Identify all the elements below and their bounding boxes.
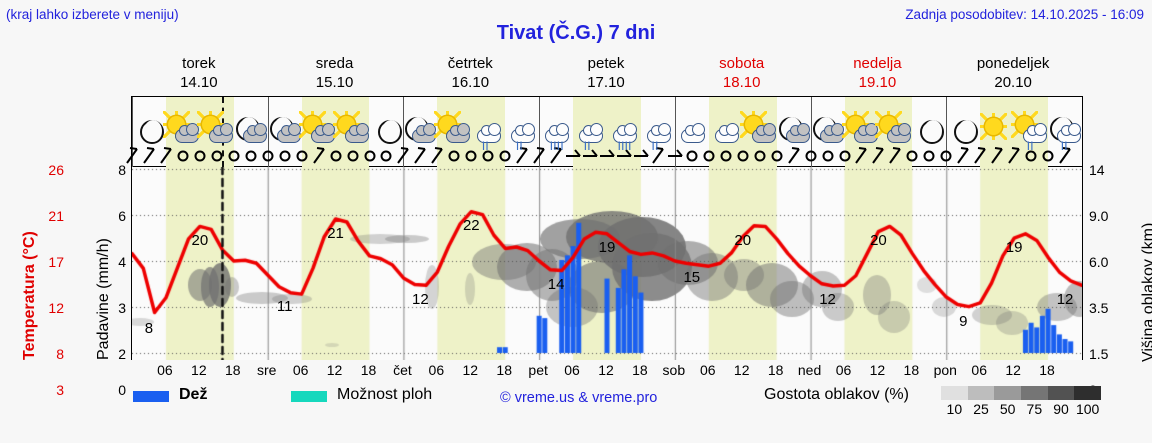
cloud-icon bbox=[277, 129, 301, 143]
cloud-density-tick: 50 bbox=[1000, 401, 1016, 417]
tick-label: 9.0 bbox=[1089, 208, 1108, 224]
cloud-icon bbox=[752, 129, 776, 143]
temperature-label: 19 bbox=[599, 239, 616, 256]
cloud-tick-labels: 149.06.03.51.50 bbox=[1089, 160, 1129, 370]
rain-drops-icon: || bbox=[584, 142, 591, 149]
weather-icon-cell bbox=[845, 97, 879, 167]
weather-icon-cell bbox=[302, 97, 336, 167]
x-axis-tick-labels: 061218sre061218čet061218pet061218sob0612… bbox=[131, 362, 1083, 380]
x-tick-label: 06 bbox=[700, 362, 716, 378]
x-tick-label: 06 bbox=[971, 362, 987, 378]
weather-icon-sun-cloud bbox=[166, 115, 200, 149]
weather-icon-moon-cloud bbox=[403, 115, 437, 149]
tick-label: 4 bbox=[118, 254, 126, 270]
weather-icon-cloud-rain-light: || bbox=[505, 115, 539, 149]
weather-icon-moon-cloud bbox=[234, 115, 268, 149]
weather-icon-moon bbox=[132, 115, 166, 149]
cloud-icon bbox=[511, 129, 535, 143]
cloud-icon bbox=[175, 129, 199, 143]
x-tick-label: 12 bbox=[870, 362, 886, 378]
day-header-torek: torek14.10 bbox=[131, 54, 267, 92]
moon-icon bbox=[920, 120, 944, 144]
temperature-label: 9 bbox=[959, 313, 967, 330]
weather-icon-cloud-rain-heavy: |||| bbox=[607, 115, 641, 149]
weather-icon-cell bbox=[912, 97, 946, 167]
x-tick-label: 06 bbox=[429, 362, 445, 378]
weather-icon-sun-cloud bbox=[437, 115, 471, 149]
x-tick-label: 18 bbox=[1039, 362, 1055, 378]
weather-icon-cell bbox=[132, 97, 166, 167]
tick-label: 6 bbox=[118, 208, 126, 224]
moon-icon bbox=[378, 120, 402, 144]
x-tick-label: sre bbox=[257, 362, 276, 378]
day-header-petek: petek17.10 bbox=[538, 54, 674, 92]
weather-icon-cell bbox=[234, 97, 268, 167]
weather-icon-cell bbox=[878, 97, 912, 167]
cloud-density-tick: 25 bbox=[973, 401, 989, 417]
weather-icon-cell bbox=[200, 97, 234, 167]
day-header-ponedeljek: ponedeljek20.10 bbox=[945, 54, 1081, 92]
cloud-icon bbox=[446, 129, 470, 143]
location-menu-note: (kraj lahko izberete v meniju) bbox=[6, 7, 179, 22]
cloud-icon bbox=[412, 129, 436, 143]
cloud-icon bbox=[854, 129, 878, 143]
temperature-label: 20 bbox=[870, 232, 887, 249]
x-tick-label: čet bbox=[393, 362, 412, 378]
rain-legend-label: Dež bbox=[179, 386, 207, 404]
weather-icon-sun-cloud-rain: || bbox=[1014, 115, 1048, 149]
cloud-icon bbox=[820, 129, 844, 143]
showers-legend-label: Možnost ploh bbox=[337, 386, 432, 404]
weather-icon-cloud-rain-heavy: |||| bbox=[539, 115, 573, 149]
day-date: 15.10 bbox=[267, 73, 403, 92]
x-tick-label: 18 bbox=[225, 362, 241, 378]
weather-icon-cell bbox=[166, 97, 200, 167]
temperature-label: 14 bbox=[548, 276, 565, 293]
x-tick-label: 12 bbox=[1005, 362, 1021, 378]
weather-icon-cell bbox=[946, 97, 980, 167]
cloud-density-tick: 75 bbox=[1027, 401, 1043, 417]
rain-drops-icon: |||| bbox=[618, 142, 632, 149]
weather-icon-cloud bbox=[709, 115, 743, 149]
x-tick-label: 12 bbox=[462, 362, 478, 378]
tick-label: 1.5 bbox=[1089, 346, 1108, 362]
day-name: sobota bbox=[674, 54, 810, 73]
weather-icon-cell: || bbox=[471, 97, 505, 167]
copyright-link[interactable]: © vreme.us & vreme.pro bbox=[500, 390, 657, 406]
last-updated-label: Zadnja posodobitev: 14.10.2025 - 16:09 bbox=[905, 7, 1144, 22]
cloud-icon bbox=[345, 129, 369, 143]
rain-drops-icon: || bbox=[1027, 142, 1034, 149]
x-tick-label: 12 bbox=[191, 362, 207, 378]
weather-icon-cell bbox=[437, 97, 471, 167]
day-date: 20.10 bbox=[945, 73, 1081, 92]
x-tick-label: 12 bbox=[598, 362, 614, 378]
day-name: nedelja bbox=[810, 54, 946, 73]
x-tick-label: 18 bbox=[904, 362, 920, 378]
weather-icon-band: |||||||||||||||||||| bbox=[132, 97, 1082, 167]
cloud-density-step bbox=[1021, 386, 1048, 400]
weather-icon-sun-cloud bbox=[845, 115, 879, 149]
tick-label: 0 bbox=[118, 382, 126, 398]
rain-drops-icon: || bbox=[482, 142, 489, 149]
weather-icon-moon-cloud bbox=[777, 115, 811, 149]
day-header-nedelja: nedelja19.10 bbox=[810, 54, 946, 92]
cloud-icon bbox=[681, 129, 705, 143]
temperature-label: 15 bbox=[683, 269, 700, 286]
day-header-sobota: sobota18.10 bbox=[674, 54, 810, 92]
cloud-density-step bbox=[941, 386, 968, 400]
chart-canvas bbox=[132, 167, 1082, 360]
weather-icon-cell: || bbox=[1048, 97, 1082, 167]
x-tick-label: 12 bbox=[327, 362, 343, 378]
temperature-tick-labels: 2621171283 bbox=[28, 160, 64, 370]
tick-label: 3 bbox=[56, 382, 64, 398]
weather-icon-cell bbox=[743, 97, 777, 167]
weather-icon-sun-cloud bbox=[200, 115, 234, 149]
x-tick-label: 06 bbox=[157, 362, 173, 378]
weather-icon-cell bbox=[980, 97, 1014, 167]
weather-icon-sun bbox=[980, 115, 1014, 149]
day-date: 17.10 bbox=[538, 73, 674, 92]
day-name: četrtek bbox=[402, 54, 538, 73]
day-header-četrtek: četrtek16.10 bbox=[402, 54, 538, 92]
weather-icon-cell bbox=[268, 97, 302, 167]
temperature-label: 19 bbox=[1006, 239, 1023, 256]
x-tick-label: 06 bbox=[293, 362, 309, 378]
weather-icon-moon bbox=[912, 115, 946, 149]
day-date: 19.10 bbox=[810, 73, 946, 92]
precipitation-tick-labels: 864320 bbox=[96, 160, 126, 370]
graph-area: 8201121122214191520122091912 bbox=[132, 167, 1082, 360]
cloud-icon bbox=[715, 129, 739, 143]
moon-icon bbox=[140, 120, 164, 144]
temperature-label: 22 bbox=[463, 217, 480, 234]
weather-icon-cloud-rain-light: || bbox=[573, 115, 607, 149]
rain-legend-swatch bbox=[133, 391, 169, 402]
weather-icon-moon-cloud bbox=[811, 115, 845, 149]
x-tick-label: pon bbox=[934, 362, 957, 378]
weather-icon-moon-cloud-rain: || bbox=[1048, 115, 1082, 149]
x-tick-label: 18 bbox=[632, 362, 648, 378]
cloud-density-tick: 100 bbox=[1076, 401, 1099, 417]
weather-icon-moon bbox=[946, 115, 980, 149]
temperature-label: 12 bbox=[819, 291, 836, 308]
weather-icon-cell: || bbox=[505, 97, 539, 167]
weather-icon-cloud-rain-light: || bbox=[641, 115, 675, 149]
showers-legend-swatch bbox=[291, 391, 327, 402]
x-tick-label: ned bbox=[798, 362, 821, 378]
temperature-label: 12 bbox=[412, 291, 429, 308]
rain-drops-icon: |||| bbox=[550, 142, 564, 149]
tick-label: 3.5 bbox=[1089, 300, 1108, 316]
cloud-icon bbox=[887, 129, 911, 143]
tick-label: 14 bbox=[1089, 162, 1105, 178]
day-name: petek bbox=[538, 54, 674, 73]
weather-icon-cell bbox=[403, 97, 437, 167]
weather-icon-cell: || bbox=[1014, 97, 1048, 167]
x-tick-label: 06 bbox=[564, 362, 580, 378]
cloud-density-tick: 10 bbox=[947, 401, 963, 417]
cloud-density-step bbox=[968, 386, 995, 400]
weather-icon-cloud-rain-light: || bbox=[471, 115, 505, 149]
cloud-icon bbox=[477, 129, 501, 143]
weather-icon-cell bbox=[336, 97, 370, 167]
x-tick-label: 12 bbox=[734, 362, 750, 378]
weather-icon-cell: || bbox=[573, 97, 607, 167]
cloud-density-colorbar bbox=[941, 386, 1101, 400]
page-title: Tivat (Č.G.) 7 dni bbox=[0, 22, 1152, 45]
cloud-density-legend-label: Gostota oblakov (%) bbox=[764, 386, 909, 404]
x-tick-label: sob bbox=[663, 362, 686, 378]
temperature-label: 21 bbox=[327, 225, 344, 242]
cloud-icon bbox=[786, 129, 810, 143]
weather-icon-cell bbox=[675, 97, 709, 167]
weather-icon-sun-cloud bbox=[878, 115, 912, 149]
day-date: 18.10 bbox=[674, 73, 810, 92]
tick-label: 26 bbox=[48, 162, 64, 178]
cloud-density-step bbox=[994, 386, 1021, 400]
weather-icon-cell bbox=[777, 97, 811, 167]
day-name: torek bbox=[131, 54, 267, 73]
tick-label: 3 bbox=[118, 300, 126, 316]
day-name: ponedeljek bbox=[945, 54, 1081, 73]
x-tick-label: pet bbox=[528, 362, 547, 378]
tick-label: 17 bbox=[48, 254, 64, 270]
tick-label: 12 bbox=[48, 300, 64, 316]
weather-icon-sun-cloud bbox=[302, 115, 336, 149]
tick-label: 21 bbox=[48, 208, 64, 224]
weather-icon-sun-cloud bbox=[743, 115, 777, 149]
tick-label: 8 bbox=[56, 346, 64, 362]
temperature-label: 20 bbox=[734, 232, 751, 249]
sun-icon bbox=[985, 118, 1002, 135]
x-tick-label: 18 bbox=[361, 362, 377, 378]
weather-icon-cell: |||| bbox=[607, 97, 641, 167]
day-header-sreda: sreda15.10 bbox=[267, 54, 403, 92]
x-tick-label: 18 bbox=[768, 362, 784, 378]
rain-drops-icon: || bbox=[516, 142, 523, 149]
moon-icon bbox=[954, 120, 978, 144]
cloud-density-step bbox=[1074, 386, 1101, 400]
weather-icon-cell bbox=[811, 97, 845, 167]
forecast-plot[interactable]: |||||||||||||||||||| 8201121122214191520… bbox=[131, 96, 1083, 360]
day-date: 16.10 bbox=[402, 73, 538, 92]
temperature-label: 11 bbox=[277, 298, 293, 315]
weather-icon-moon bbox=[370, 115, 404, 149]
day-date: 14.10 bbox=[131, 73, 267, 92]
temperature-axis-title: Temperatura (°C) bbox=[3, 172, 25, 362]
weather-icon-cell bbox=[370, 97, 404, 167]
weather-icon-cell: || bbox=[641, 97, 675, 167]
day-headers: torek14.10sreda15.10četrtek16.10petek17.… bbox=[131, 54, 1083, 96]
day-name: sreda bbox=[267, 54, 403, 73]
weather-icon-cell: |||| bbox=[539, 97, 573, 167]
weather-icon-cloud bbox=[675, 115, 709, 149]
rain-drops-icon: || bbox=[1061, 142, 1068, 149]
tick-label: 2 bbox=[118, 346, 126, 362]
cloud-icon bbox=[311, 129, 335, 143]
x-tick-label: 18 bbox=[496, 362, 512, 378]
weather-icon-cell bbox=[709, 97, 743, 167]
temperature-label: 12 bbox=[1057, 291, 1074, 308]
weather-icon-moon-cloud bbox=[268, 115, 302, 149]
rain-drops-icon: || bbox=[652, 142, 659, 149]
cloud-density-step bbox=[1048, 386, 1075, 400]
temperature-label: 20 bbox=[192, 232, 209, 249]
weather-icon-sun-cloud bbox=[336, 115, 370, 149]
cloud-icon bbox=[579, 129, 603, 143]
x-tick-label: 06 bbox=[836, 362, 852, 378]
chart-legend: Dež Možnost ploh © vreme.us & vreme.pro … bbox=[131, 388, 1141, 428]
temperature-label: 8 bbox=[145, 320, 153, 337]
cloud-icon bbox=[209, 129, 233, 143]
cloud-density-tick: 90 bbox=[1053, 401, 1069, 417]
cloud-icon bbox=[243, 129, 267, 143]
tick-label: 6.0 bbox=[1089, 254, 1108, 270]
